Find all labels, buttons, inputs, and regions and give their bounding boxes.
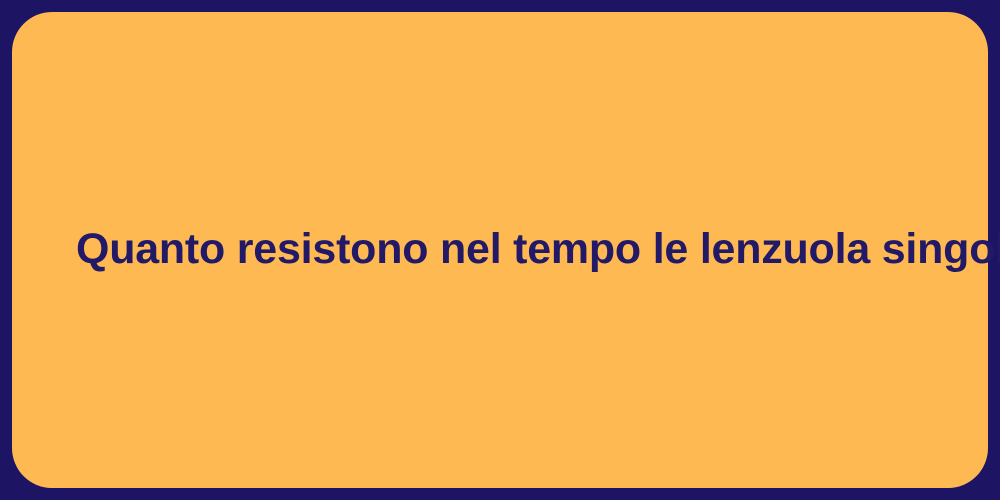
headline-container: Quanto resistono nel tempo le lenzuola s… — [60, 223, 940, 277]
card-panel: Quanto resistono nel tempo le lenzuola s… — [12, 12, 988, 488]
headline: Quanto resistono nel tempo le lenzuola s… — [76, 223, 924, 277]
banner-root: Quanto resistono nel tempo le lenzuola s… — [0, 0, 1000, 500]
